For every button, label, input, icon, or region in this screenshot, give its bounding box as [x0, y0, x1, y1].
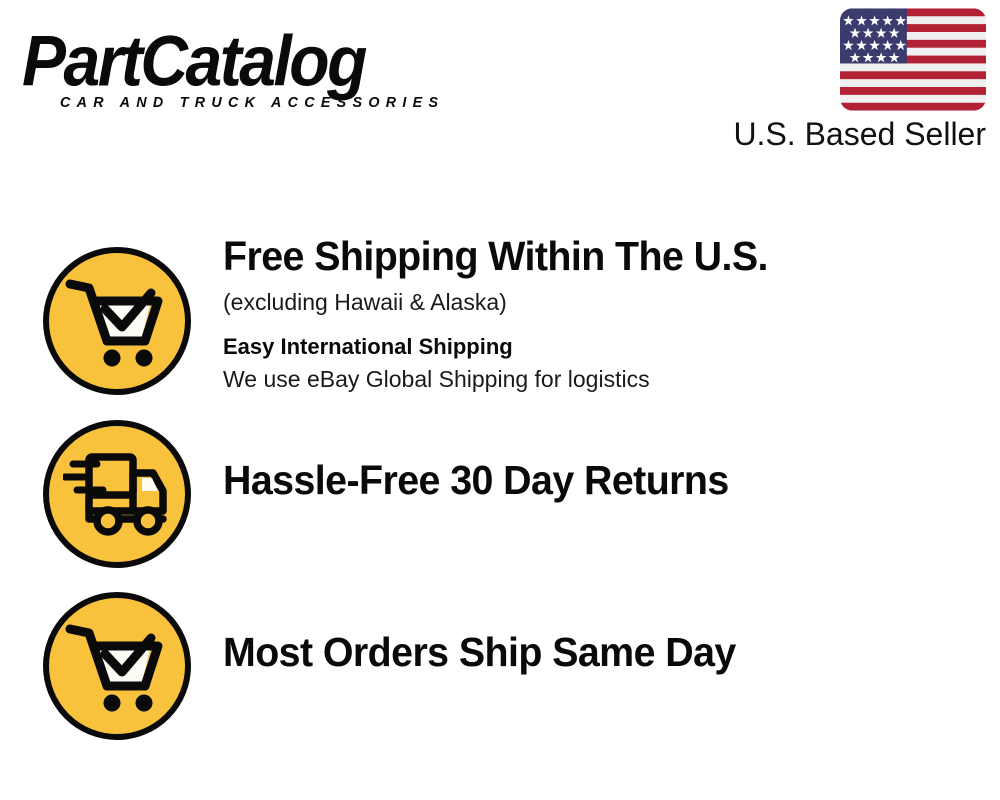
brand-tagline: CAR AND TRUCK ACCESSORIES	[60, 95, 486, 111]
us-based-seller-label: U.S. Based Seller	[686, 116, 986, 152]
us-based-seller-block: U.S. Based Seller	[686, 8, 986, 152]
brand-wordmark: PartCatalog	[22, 24, 492, 97]
feature-title: Most Orders Ship Same Day	[223, 628, 959, 676]
feature-badge-3	[43, 592, 191, 740]
feature-text-block: Free Shipping Within The U.S. (excluding…	[223, 232, 990, 394]
feature-secondary-title: Easy International Shipping	[223, 332, 990, 362]
shipping-info-banner: PartCatalog CAR AND TRUCK ACCESSORIES	[0, 0, 1000, 800]
feature-badge-1	[43, 247, 191, 395]
feature-row: Free Shipping Within The U.S. (excluding…	[0, 232, 1000, 412]
feature-title: Hassle-Free 30 Day Returns	[223, 456, 959, 504]
shopping-cart-check-icon	[65, 275, 169, 367]
delivery-truck-icon	[63, 451, 171, 537]
shopping-cart-check-icon	[65, 620, 169, 712]
feature-text-block: Most Orders Ship Same Day	[223, 628, 990, 676]
us-flag-icon	[840, 8, 986, 111]
feature-subtitle: (excluding Hawaii & Alaska)	[223, 286, 990, 318]
banner-header: PartCatalog CAR AND TRUCK ACCESSORIES	[0, 0, 1000, 170]
feature-row: Hassle-Free 30 Day Returns	[0, 408, 1000, 580]
feature-title: Free Shipping Within The U.S.	[223, 232, 959, 280]
feature-text-block: Hassle-Free 30 Day Returns	[223, 456, 990, 504]
feature-badge-2	[43, 420, 191, 568]
feature-row: Most Orders Ship Same Day	[0, 580, 1000, 752]
brand-logo: PartCatalog CAR AND TRUCK ACCESSORIES	[22, 24, 492, 111]
feature-secondary-subtitle: We use eBay Global Shipping for logistic…	[223, 364, 990, 394]
